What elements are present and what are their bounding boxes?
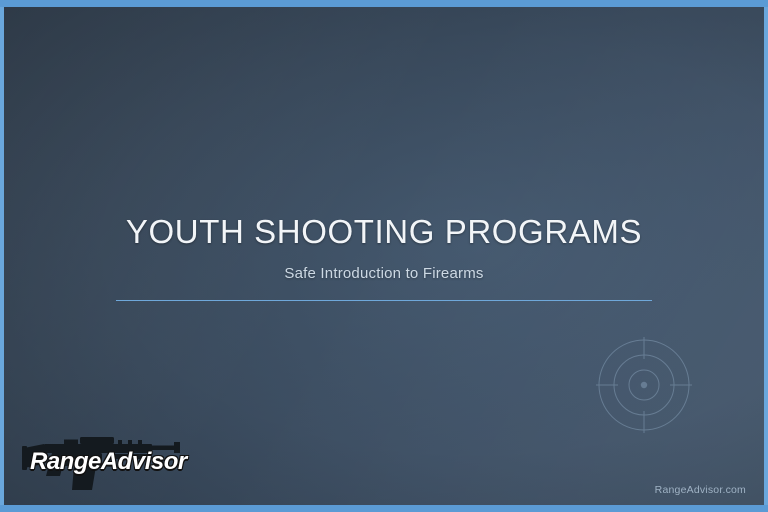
logo-wordmark: RangeAdvisor <box>30 448 187 476</box>
target-reticle-icon <box>596 337 692 433</box>
slide-subtitle: Safe Introduction to Firearms <box>0 265 768 282</box>
footer-site-label: RangeAdvisor.com <box>655 484 746 496</box>
top-accent-bar <box>0 0 768 7</box>
brand-logo: RangeAdvisor <box>22 434 194 498</box>
slide-title: YOUTH SHOOTING PROGRAMS <box>0 212 768 252</box>
presentation-slide: YOUTH SHOOTING PROGRAMS Safe Introductio… <box>0 0 768 512</box>
title-divider <box>116 300 652 301</box>
bottom-accent-bar <box>0 505 768 512</box>
title-block: YOUTH SHOOTING PROGRAMS Safe Introductio… <box>0 212 768 301</box>
